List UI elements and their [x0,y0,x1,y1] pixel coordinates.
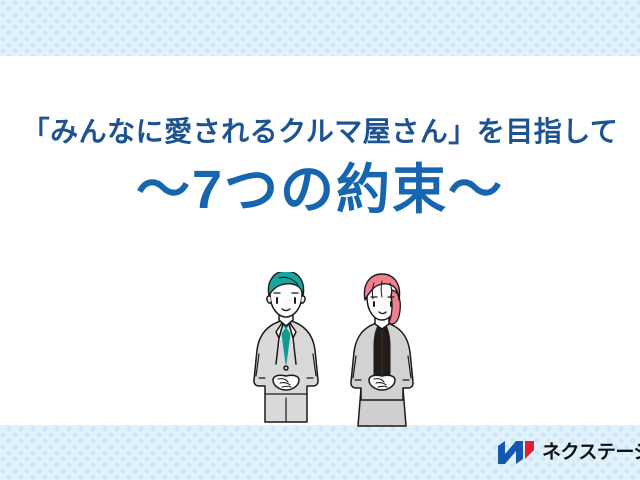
headline-line-1: 「みんなに愛されるクルマ屋さん」を目指して [0,56,640,146]
staff-illustration-svg [232,272,432,427]
headline-block: 「みんなに愛されるクルマ屋さん」を目指して 〜7つの約束〜 [0,56,640,219]
nextage-n-mark-icon [497,440,535,465]
nextage-logo: ネクステージ [497,436,640,468]
man-figure [254,272,318,422]
headline-line-2: 〜7つの約束〜 [0,146,640,219]
nextage-logo-text: ネクステージ [542,443,640,462]
slide-canvas: 「みんなに愛されるクルマ屋さん」を目指して 〜7つの約束〜 [0,0,640,480]
content-card: 「みんなに愛されるクルマ屋さん」を目指して 〜7つの約束〜 [0,56,640,425]
woman-figure [351,274,413,426]
two-bowing-staff-illustration [232,272,432,427]
